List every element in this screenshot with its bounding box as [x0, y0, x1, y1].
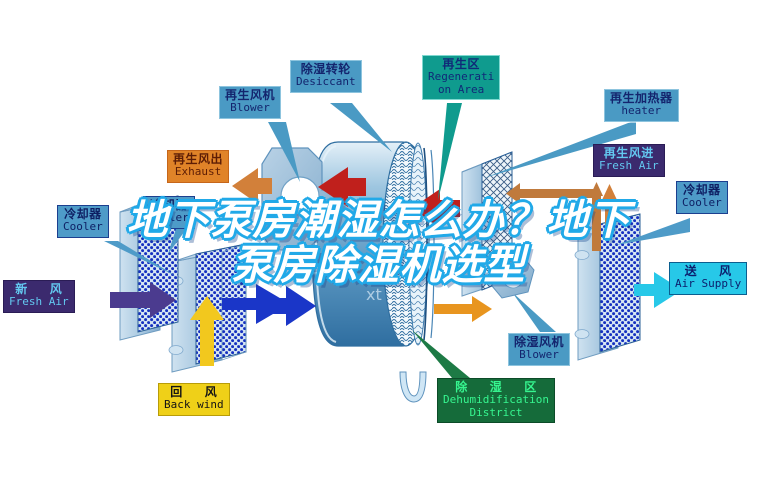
- label-dehum-blower-en: Blower: [514, 349, 564, 361]
- label-cooler-left-inner[interactable]: 冷却器 Cooler: [143, 196, 195, 229]
- label-regen-heater-cn: 再生加热器: [610, 92, 673, 105]
- label-back-wind-cn: 回风: [164, 386, 224, 399]
- cooler-right-unit: [575, 214, 640, 360]
- label-fresh-air-cn: 新风: [9, 283, 69, 296]
- label-cooler-right-en: Cooler: [682, 197, 722, 209]
- dehumidification-blower: [492, 258, 534, 298]
- label-dehum-district-en1: Dehumidification: [443, 394, 549, 406]
- rotor-duct-piece: [400, 372, 426, 402]
- label-regen-blower[interactable]: 再生风机 Blower: [219, 86, 281, 119]
- label-regen-blower-cn: 再生风机: [225, 89, 275, 102]
- label-cooler-right-cn: 冷却器: [682, 184, 722, 197]
- label-regen-blower-en: Blower: [225, 102, 275, 114]
- label-cooler-right[interactable]: 冷却器 Cooler: [676, 181, 728, 214]
- label-dehum-district-cn: 除湿区: [443, 381, 549, 394]
- label-fresh-air[interactable]: 新风 Fresh Air: [3, 280, 75, 313]
- label-regeneration-area-cn: 再生区: [428, 58, 494, 71]
- label-exhaust-cn: 再生风出: [173, 153, 223, 166]
- label-regen-heater[interactable]: 再生加热器 heater: [604, 89, 679, 122]
- schematic-artwork: xt: [0, 0, 757, 488]
- diagram-canvas: xt: [0, 0, 757, 488]
- label-regen-fresh-air[interactable]: 再生风进 Fresh Air: [593, 144, 665, 177]
- label-regen-heater-en: heater: [610, 105, 673, 117]
- arrow-rotor-exit: [434, 296, 492, 322]
- label-air-supply-en: Air Supply: [675, 278, 741, 290]
- label-air-supply-cn: 送风: [675, 265, 741, 278]
- label-regen-fresh-air-cn: 再生风进: [599, 147, 659, 160]
- label-exhaust-en: Exhaust: [173, 166, 223, 178]
- label-dehum-district-en2: District: [443, 407, 549, 419]
- label-desiccant[interactable]: 除湿转轮 Desiccant: [290, 60, 362, 93]
- label-back-wind-en: Back wind: [164, 399, 224, 411]
- label-desiccant-cn: 除湿转轮: [296, 63, 356, 76]
- label-fresh-air-en: Fresh Air: [9, 296, 69, 308]
- label-exhaust[interactable]: 再生风出 Exhaust: [167, 150, 229, 183]
- label-back-wind[interactable]: 回风 Back wind: [158, 383, 230, 416]
- label-dehum-blower-cn: 除湿风机: [514, 336, 564, 349]
- label-regen-fresh-air-en: Fresh Air: [599, 160, 659, 172]
- label-cooler-left-outer[interactable]: 冷却器 Cooler: [57, 205, 109, 238]
- desiccant-rotor: xt: [312, 142, 434, 346]
- label-cooler-left-inner-en: Cooler: [149, 212, 189, 224]
- label-cooler-left-outer-cn: 冷却器: [63, 208, 103, 221]
- label-cooler-left-outer-en: Cooler: [63, 221, 103, 233]
- label-regeneration-area-en1: Regenerati: [428, 71, 494, 83]
- label-cooler-left-inner-cn: 冷却器: [149, 199, 189, 212]
- label-desiccant-en: Desiccant: [296, 76, 356, 88]
- label-regeneration-area-en2: on Area: [428, 84, 494, 96]
- label-dehumidification-blower[interactable]: 除湿风机 Blower: [508, 333, 570, 366]
- label-regeneration-area[interactable]: 再生区 Regenerati on Area: [422, 55, 500, 100]
- label-air-supply[interactable]: 送风 Air Supply: [669, 262, 747, 295]
- label-dehumidification-district[interactable]: 除湿区 Dehumidification District: [437, 378, 555, 423]
- svg-text:xt: xt: [366, 285, 382, 304]
